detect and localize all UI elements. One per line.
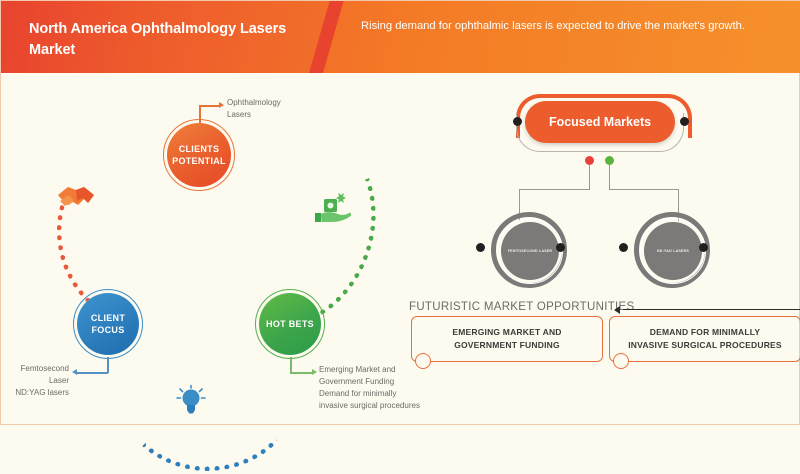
callout-line: Laser [1,375,69,387]
money-hand-icon [311,189,351,230]
futuristic-box-1-notch [415,353,431,369]
box-line: GOVERNMENT FUNDING [452,339,561,352]
box-line: INVASIVE SURGICAL PROCEDURES [628,339,782,352]
femtosecond-dot-right [556,243,565,252]
futuristic-box-2-notch [613,353,629,369]
femtosecond-dot-left [476,243,485,252]
focused-markets-label: Focused Markets [549,115,651,129]
ndyag-dot-right [699,243,708,252]
connector-stem-left [589,165,590,189]
callout-top-elbow [199,105,219,107]
focused-markets-pill[interactable]: Focused Markets [525,101,675,143]
box-line: EMERGING MARKET AND [452,326,561,339]
pill-dot-left [513,117,522,126]
callout-line: Ophthalmology [227,97,307,109]
futuristic-arrowhead [614,306,620,314]
callout-right-stem [290,357,292,373]
callout-right-elbow [290,372,312,374]
callout-top-arrowhead [219,102,224,108]
callout-line: Demand for minimally [319,388,439,400]
callout-line: invasive surgical procedures [319,400,439,412]
pill-dot-right [680,117,689,126]
node-hot-bets[interactable]: HOT BETS [259,293,321,355]
page-title: North America Ophthalmology Lasers Marke… [29,19,319,61]
futuristic-arrow-line [623,309,800,310]
connector-hline-left [519,189,590,190]
header-banner: North America Ophthalmology Lasers Marke… [1,1,800,73]
node-label: ND:YAG LASERS [657,249,689,253]
handshake-icon [55,181,97,220]
header-subtitle: Rising demand for ophthalmic lasers is e… [361,18,761,35]
connector-stem-right [609,165,610,189]
futuristic-box-minimally-invasive[interactable]: DEMAND FOR MINIMALLY INVASIVE SURGICAL P… [609,316,800,362]
callout-ophthalmology-lasers: Ophthalmology Lasers [227,97,307,121]
futuristic-section-title: FUTURISTIC MARKET OPPORTUNITIES [409,301,634,313]
node-client-focus[interactable]: CLIENT FOCUS [77,293,139,355]
callout-emerging-market: Emerging Market and Government Funding D… [319,364,439,412]
lightbulb-icon [173,384,209,423]
callout-femtosecond-ndyag: Femtosecond Laser ND:YAG lasers [1,363,69,399]
callout-line: Femtosecond [1,363,69,375]
callout-left-arrowhead [72,369,77,375]
node-label: FEMTOSECOND LASER [508,249,552,253]
node-label: HOT BETS [266,318,314,330]
futuristic-box-emerging-market[interactable]: EMERGING MARKET AND GOVERNMENT FUNDING [411,316,603,362]
infographic-canvas: North America Ophthalmology Lasers Marke… [0,0,800,425]
callout-line: Lasers [227,109,307,121]
callout-left-stem [107,357,109,373]
node-nd-yag-lasers[interactable]: ND:YAG LASERS [644,222,702,280]
box-line: DEMAND FOR MINIMALLY [628,326,782,339]
connector-dot-red [585,156,594,165]
node-femtosecond-laser[interactable]: FEMTOSECOND LASER [501,222,559,280]
ndyag-dot-left [619,243,628,252]
node-clients-potential[interactable]: CLIENTS POTENTIAL [167,123,231,187]
connector-dot-green [605,156,614,165]
node-label: CLIENTS POTENTIAL [167,143,231,167]
callout-left-elbow [77,372,108,374]
callout-line: ND:YAG lasers [1,387,69,399]
node-label: CLIENT FOCUS [77,312,139,336]
callout-right-arrowhead [312,369,317,375]
connector-hline-right [609,189,679,190]
callout-line: Government Funding [319,376,439,388]
